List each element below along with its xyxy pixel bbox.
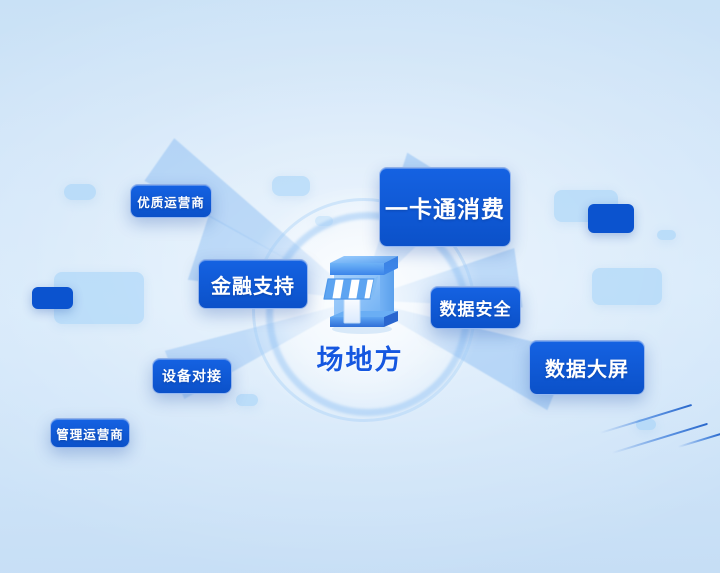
feature-chip-shebei[interactable]: 设备对接 <box>152 358 232 394</box>
striped-awning <box>324 276 378 301</box>
feature-chip-jinrong[interactable]: 金融支持 <box>198 259 308 309</box>
feature-chip-label: 数据大屏 <box>545 353 629 382</box>
feature-chip-label: 管理运营商 <box>56 424 124 443</box>
feature-chip-label: 设备对接 <box>162 366 222 386</box>
feature-chip-label: 数据安全 <box>440 295 512 320</box>
feature-chip-dapin[interactable]: 数据大屏 <box>529 340 645 395</box>
feature-chip-label: 一卡通消费 <box>385 190 505 224</box>
storefront-icon <box>314 243 410 339</box>
feature-chip-guanli[interactable]: 管理运营商 <box>50 418 130 448</box>
feature-chip-label: 优质运营商 <box>137 192 205 211</box>
roof-slab <box>330 256 398 275</box>
feature-chip-youzhi[interactable]: 优质运营商 <box>130 184 212 218</box>
feature-chip-yikatong[interactable]: 一卡通消费 <box>379 167 511 247</box>
infographic-canvas: 场地方 一卡通消费金融支持优质运营商设备对接管理运营商数据安全数据大屏 <box>0 0 720 573</box>
feature-chip-label: 金融支持 <box>211 270 295 299</box>
feature-chip-anquan[interactable]: 数据安全 <box>430 286 521 329</box>
shop-base <box>330 311 398 327</box>
